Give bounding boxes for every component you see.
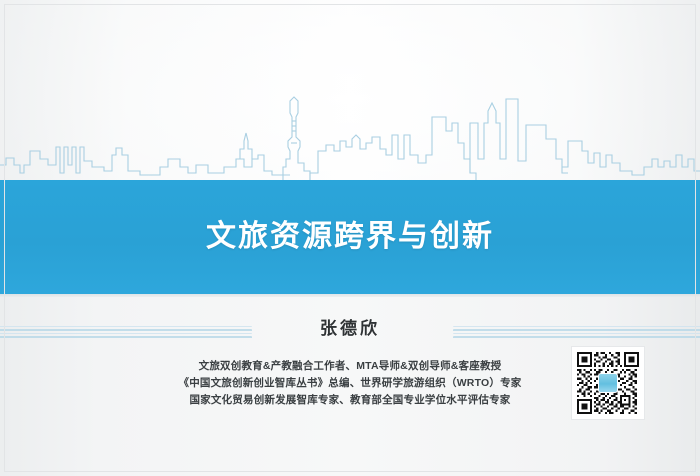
title-banner: 文旅资源跨界与创新 [0, 180, 700, 294]
presentation-slide: 文旅资源跨界与创新 张德欣 文旅双创教育&产教融合工作者、MTA导师&双创导师&… [0, 0, 700, 476]
panel-divider [0, 294, 700, 297]
skyline-background [0, 0, 700, 180]
presenter-block: 张德欣 [0, 318, 700, 340]
city-skyline-icon [0, 55, 700, 180]
qr-code-icon [577, 352, 639, 414]
presenter-name: 张德欣 [320, 318, 380, 340]
slide-title: 文旅资源跨界与创新 [206, 222, 494, 252]
qr-center-logo-icon [598, 373, 618, 393]
qr-code-card[interactable] [571, 346, 645, 420]
